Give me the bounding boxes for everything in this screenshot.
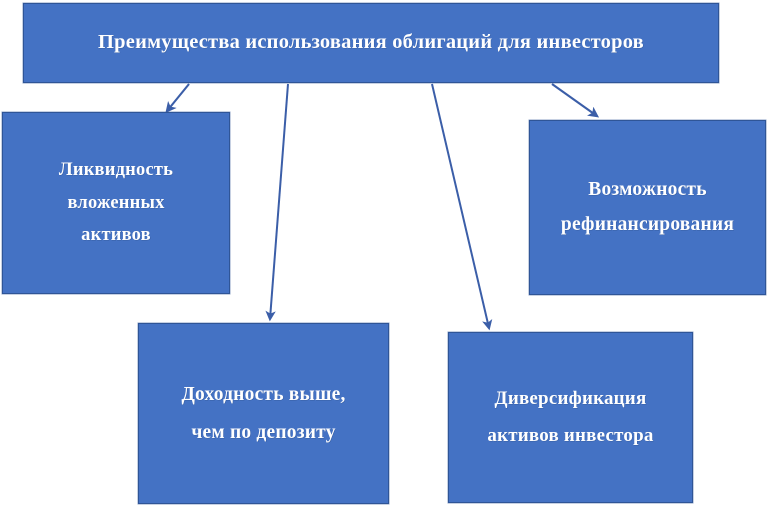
diagram-canvas: Преимущества использования облигаций для… [0, 0, 768, 510]
node-liquidity-label: Ликвидность вложенных активов [3, 154, 229, 251]
node-root-label: Преимущества использования облигаций для… [24, 30, 718, 56]
node-diversification: Диверсификация активов инвестора [448, 332, 693, 503]
node-diversification-label: Диверсификация активов инвестора [449, 381, 692, 453]
connector-root-to-refinancing [552, 84, 597, 116]
node-liquidity: Ликвидность вложенных активов [2, 112, 230, 294]
node-yield-label: Доходность выше, чем по депозиту [139, 376, 388, 450]
connector-root-to-yield [270, 84, 288, 319]
node-refinancing: Возможность рефинансирования [529, 120, 766, 295]
node-yield: Доходность выше, чем по депозиту [138, 323, 389, 504]
node-refinancing-label: Возможность рефинансирования [530, 173, 765, 241]
node-root: Преимущества использования облигаций для… [23, 3, 719, 83]
connector-root-to-diversification [432, 84, 489, 328]
connector-root-to-liquidity [167, 84, 189, 111]
